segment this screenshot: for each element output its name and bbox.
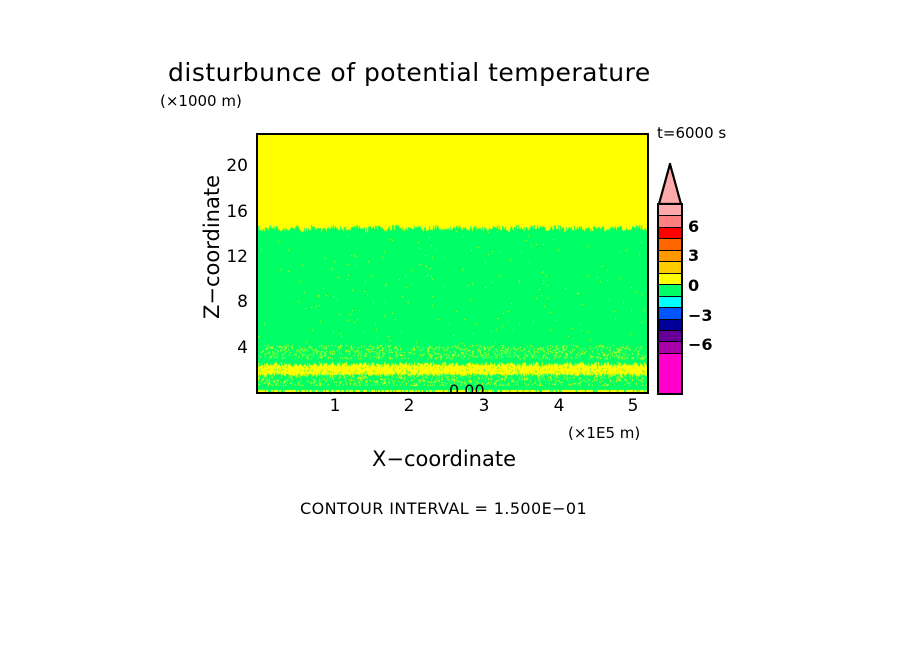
x-tick-3: 3 xyxy=(469,396,499,416)
colorbar-labels: 6 3 0 −3 −6 xyxy=(688,163,748,395)
contour-interval-caption: CONTOUR INTERVAL = 1.500E−01 xyxy=(300,499,587,518)
y-tick-20: 20 xyxy=(208,156,248,176)
colorbar-band-4 xyxy=(659,251,681,262)
colorbar-band-5 xyxy=(659,262,681,273)
colorbar-band-3 xyxy=(659,239,681,250)
x-axis-label: X−coordinate xyxy=(372,447,516,471)
colorbar-band-2 xyxy=(659,228,681,239)
plot-canvas-root: disturbunce of potential temperature (×1… xyxy=(0,0,904,654)
colorbar-band-8 xyxy=(659,297,681,308)
colorbar-label-neg6: −6 xyxy=(688,335,713,354)
colorbar-band-9 xyxy=(659,308,681,319)
colorbar-label-0: 0 xyxy=(688,276,699,295)
colorbar xyxy=(657,163,683,395)
x-tick-2: 2 xyxy=(394,396,424,416)
timestamp-annotation: t=6000 s xyxy=(657,124,726,142)
colorbar-band-10 xyxy=(659,320,681,331)
colorbar-arrow-tip-icon xyxy=(657,163,683,205)
colorbar-band-11 xyxy=(659,331,681,342)
colorbar-band-7 xyxy=(659,285,681,296)
colorbar-band-1 xyxy=(659,216,681,227)
contour-value-label: 0.00 xyxy=(449,381,485,394)
x-axis-ticks: 1 2 3 4 5 xyxy=(0,396,904,422)
contour-field-canvas xyxy=(258,135,647,392)
x-tick-5: 5 xyxy=(618,396,648,416)
colorbar-label-3: 3 xyxy=(688,246,699,265)
colorbar-bands xyxy=(657,203,683,395)
y-tick-8: 8 xyxy=(208,292,248,312)
y-tick-12: 12 xyxy=(208,247,248,267)
x-axis-units: (×1E5 m) xyxy=(568,424,640,442)
contour-plot-area xyxy=(256,133,649,394)
x-tick-4: 4 xyxy=(544,396,574,416)
colorbar-label-neg3: −3 xyxy=(688,306,713,325)
x-tick-1: 1 xyxy=(320,396,350,416)
colorbar-band-0 xyxy=(659,205,681,216)
colorbar-band-13 xyxy=(659,354,681,393)
y-tick-16: 16 xyxy=(208,202,248,222)
colorbar-band-6 xyxy=(659,274,681,285)
y-axis-ticks: 20 16 12 8 4 xyxy=(186,0,248,400)
colorbar-band-12 xyxy=(659,342,681,353)
colorbar-label-6: 6 xyxy=(688,217,699,236)
y-tick-4: 4 xyxy=(208,338,248,358)
